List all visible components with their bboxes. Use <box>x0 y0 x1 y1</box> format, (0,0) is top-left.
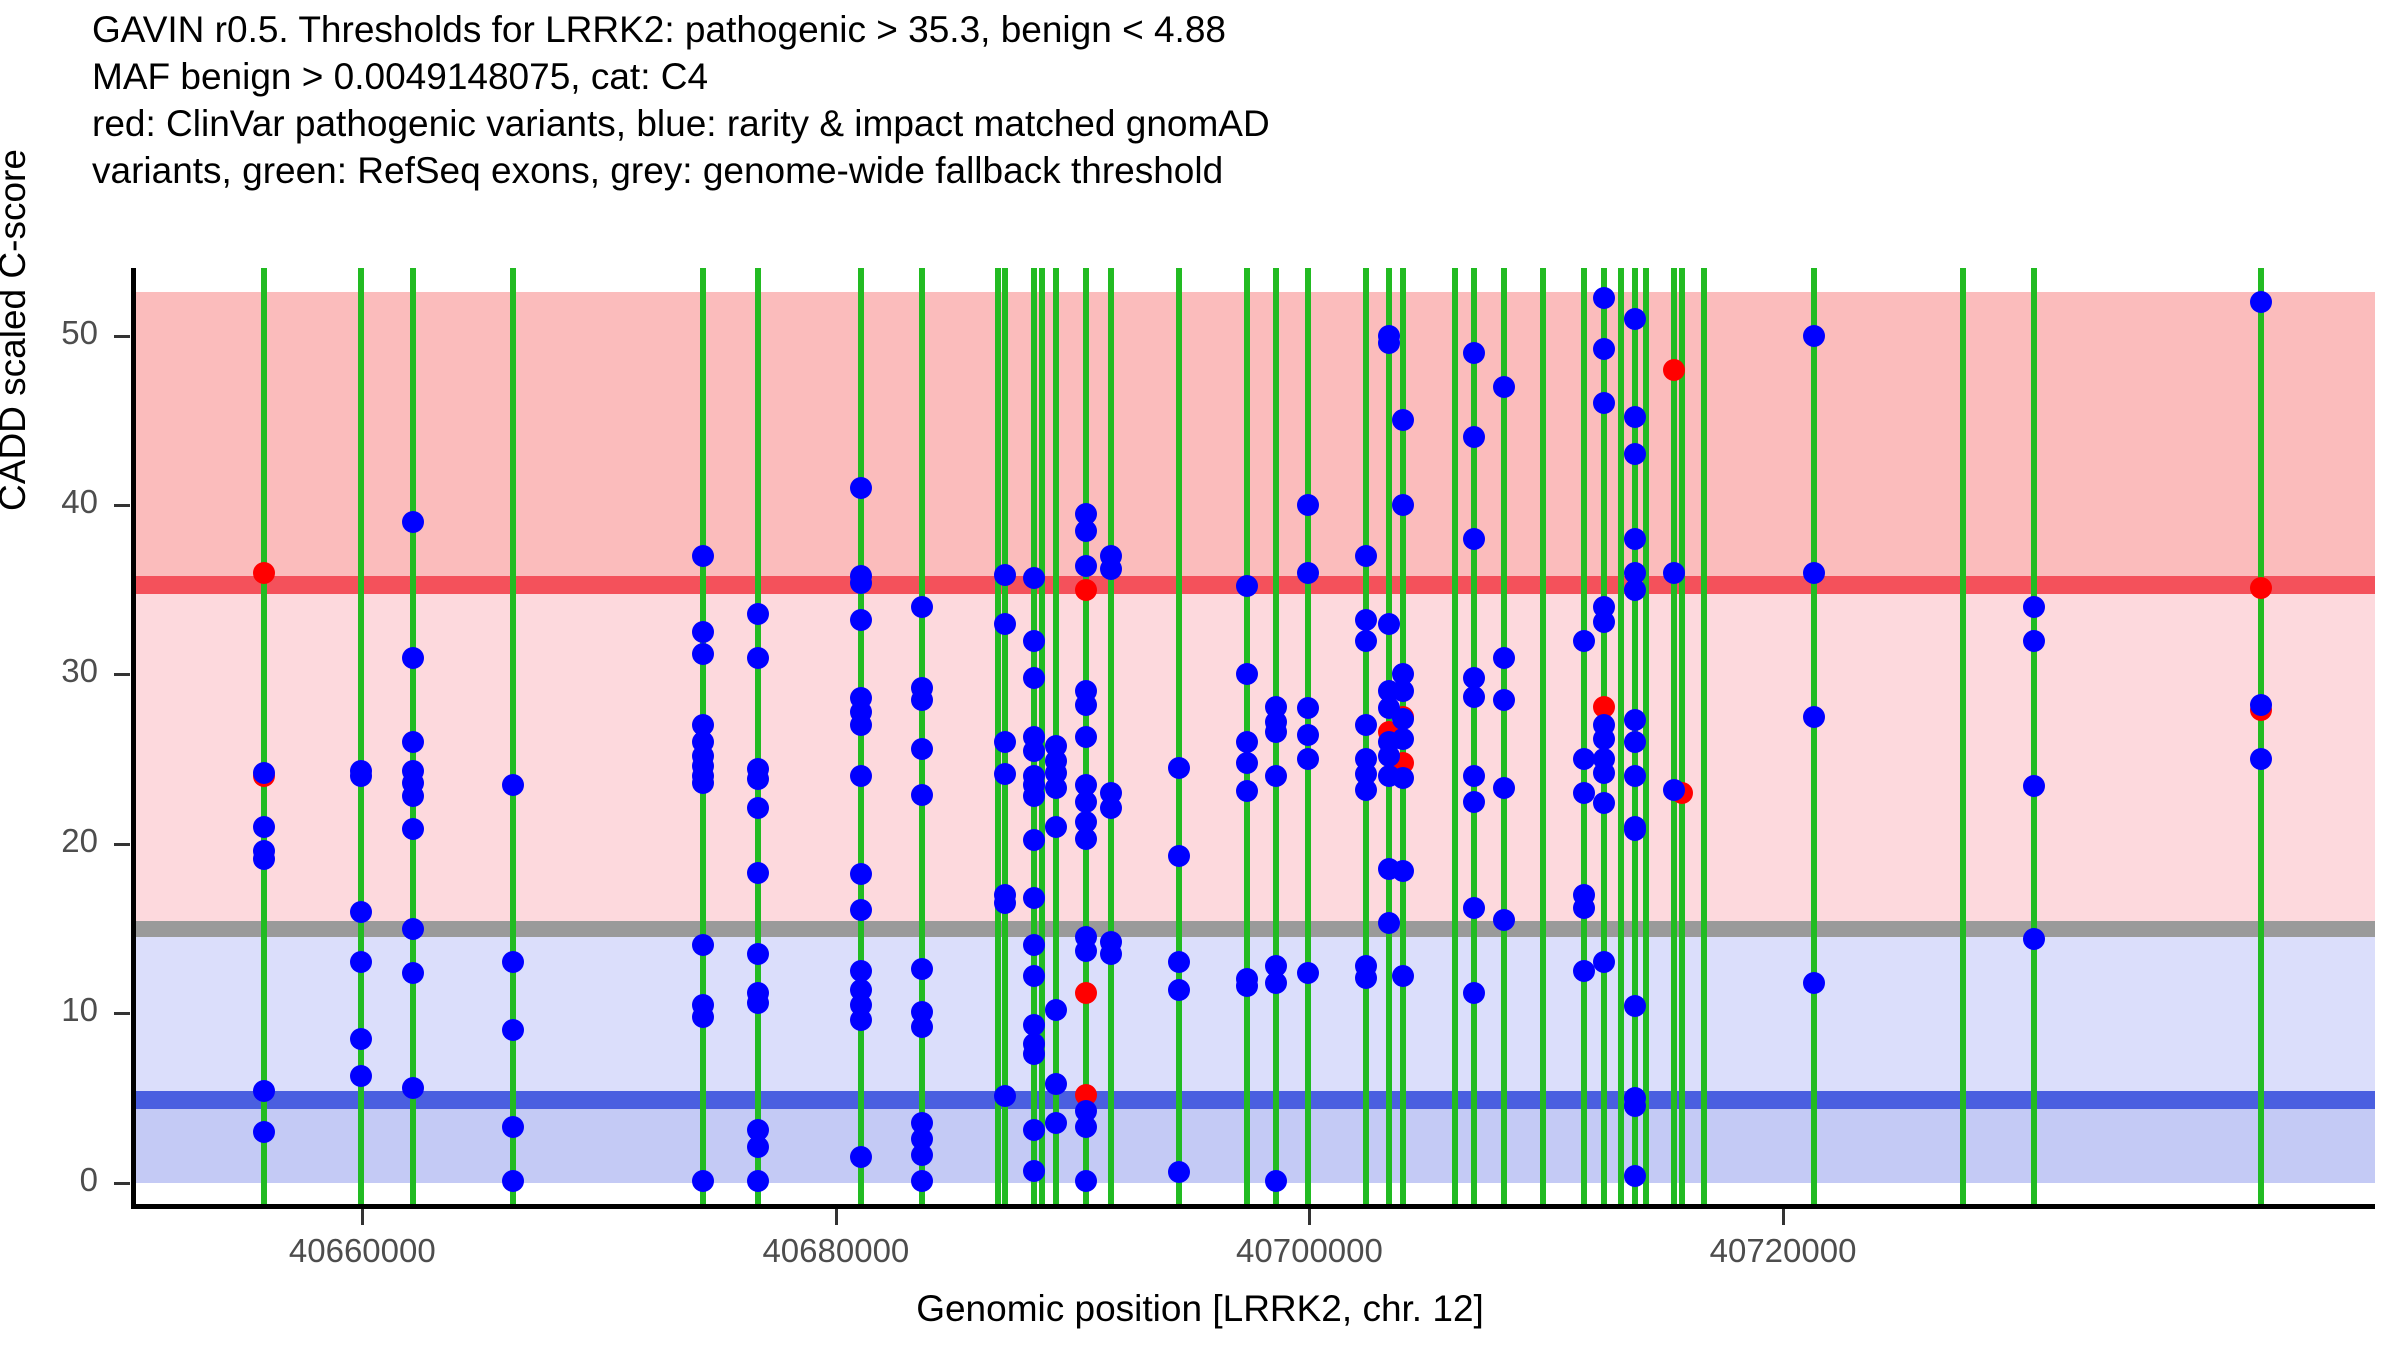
gnomad-variant-point <box>1463 791 1485 813</box>
gnomad-variant-point <box>1265 1170 1287 1192</box>
gnomad-variant-point <box>1265 972 1287 994</box>
plot-clip-region <box>135 268 2375 1208</box>
gnomad-variant-point <box>253 762 275 784</box>
gnomad-variant-point <box>1355 779 1377 801</box>
gnomad-variant-point <box>747 603 769 625</box>
gnomad-variant-point <box>1624 765 1646 787</box>
gnomad-variant-point <box>1624 1165 1646 1187</box>
gnomad-variant-point <box>1624 406 1646 428</box>
gnomad-variant-point <box>692 1170 714 1192</box>
y-axis-tick <box>114 1012 130 1015</box>
pathogenic-variant-point <box>253 562 275 584</box>
y-axis-tick <box>114 843 130 846</box>
y-axis-tick-label: 50 <box>28 314 98 352</box>
gnomad-variant-point <box>1463 342 1485 364</box>
gnomad-variant-point <box>1075 555 1097 577</box>
x-axis-tick-label: 40660000 <box>232 1232 492 1270</box>
exon-line <box>1108 268 1114 1208</box>
gnomad-variant-point <box>2023 928 2045 950</box>
gnomad-variant-point <box>253 1121 275 1143</box>
gnomad-variant-point <box>1075 1116 1097 1138</box>
x-axis-tick <box>1782 1209 1785 1225</box>
exon-line <box>2031 268 2037 1208</box>
exon-line <box>1452 268 1458 1208</box>
gnomad-variant-point <box>1493 909 1515 931</box>
title-line-4: variants, green: RefSeq exons, grey: gen… <box>92 147 2372 194</box>
exon-line <box>1811 268 1817 1208</box>
gnomad-variant-point <box>850 477 872 499</box>
region-benign <box>135 929 2375 1100</box>
gnomad-variant-point <box>1493 689 1515 711</box>
gnomad-variant-point <box>850 765 872 787</box>
gnomad-variant-point <box>1593 728 1615 750</box>
gnomad-variant-point <box>1463 765 1485 787</box>
gnomad-variant-point <box>350 1065 372 1087</box>
region-likely-benign <box>135 1100 2375 1183</box>
y-axis-tick <box>114 504 130 507</box>
gnomad-variant-point <box>402 962 424 984</box>
gnomad-variant-point <box>1392 728 1414 750</box>
exon-line <box>1501 268 1507 1208</box>
y-axis-tick <box>114 335 130 338</box>
gnomad-variant-point <box>1297 962 1319 984</box>
gnomad-variant-point <box>402 1077 424 1099</box>
gnomad-variant-point <box>350 1028 372 1050</box>
gnomad-variant-point <box>1236 752 1258 774</box>
y-axis-tick-label: 20 <box>28 822 98 860</box>
gnomad-variant-point <box>692 772 714 794</box>
gnomad-variant-point <box>1075 726 1097 748</box>
gnomad-variant-point <box>850 714 872 736</box>
gnomad-variant-point <box>1803 562 1825 584</box>
gnomad-variant-point <box>1236 975 1258 997</box>
gnomad-variant-point <box>1168 757 1190 779</box>
gnomad-variant-point <box>350 901 372 923</box>
gnomad-variant-point <box>850 863 872 885</box>
exon-line <box>1363 268 1369 1208</box>
exon-line <box>261 268 267 1208</box>
x-axis-tick <box>361 1209 364 1225</box>
gnomad-variant-point <box>1236 780 1258 802</box>
exon-line <box>755 268 761 1208</box>
gnomad-variant-point <box>1023 887 1045 909</box>
gnomad-variant-point <box>2023 630 2045 652</box>
gnomad-variant-point <box>402 818 424 840</box>
gnomad-variant-point <box>1624 528 1646 550</box>
gnomad-variant-point <box>1075 694 1097 716</box>
gnomad-variant-point <box>1023 1119 1045 1141</box>
gnomad-variant-point <box>1168 845 1190 867</box>
chart-root: GAVIN r0.5. Thresholds for LRRK2: pathog… <box>0 0 2400 1350</box>
title-line-1: GAVIN r0.5. Thresholds for LRRK2: pathog… <box>92 6 2372 53</box>
plot-panel <box>135 268 2375 1208</box>
exon-line <box>1679 268 1685 1208</box>
gnomad-variant-point <box>1168 979 1190 1001</box>
x-axis-tick <box>1308 1209 1311 1225</box>
exon-line <box>1176 268 1182 1208</box>
gnomad-variant-point <box>1392 860 1414 882</box>
gnomad-variant-point <box>253 816 275 838</box>
gnomad-variant-point <box>850 1146 872 1168</box>
gnomad-variant-point <box>1663 779 1685 801</box>
pathogenic-variant-point <box>1075 579 1097 601</box>
gnomad-variant-point <box>402 918 424 940</box>
gnomad-variant-point <box>1573 630 1595 652</box>
gnomad-variant-point <box>1463 528 1485 550</box>
gnomad-variant-point <box>253 1080 275 1102</box>
gnomad-variant-point <box>747 647 769 669</box>
gnomad-variant-point <box>1045 999 1067 1021</box>
gnomad-variant-point <box>502 1170 524 1192</box>
gnomad-variant-point <box>1023 667 1045 689</box>
region-pathogenic <box>135 292 2375 585</box>
gnomad-variant-point <box>1463 982 1485 1004</box>
x-axis-tick-label: 40720000 <box>1653 1232 1913 1270</box>
gnomad-variant-point <box>1493 777 1515 799</box>
gnomad-variant-point <box>1023 934 1045 956</box>
gnomad-variant-point <box>747 943 769 965</box>
gnomad-variant-point <box>1803 706 1825 728</box>
gnomad-variant-point <box>502 951 524 973</box>
pathogenic-variant-point <box>1075 982 1097 1004</box>
gnomad-variant-point <box>1075 520 1097 542</box>
gnomad-variant-point <box>850 609 872 631</box>
pathogenic-variant-point <box>1663 359 1685 381</box>
y-axis-title: CADD scaled C-score <box>0 100 34 560</box>
gnomad-variant-point <box>1075 1170 1097 1192</box>
gnomad-variant-point <box>1023 965 1045 987</box>
exon-line <box>1960 268 1966 1208</box>
gnomad-variant-point <box>1100 558 1122 580</box>
gnomad-variant-point <box>1075 828 1097 850</box>
gnomad-variant-point <box>1023 829 1045 851</box>
gnomad-variant-point <box>1045 777 1067 799</box>
gnomad-variant-point <box>911 784 933 806</box>
exon-line <box>1671 268 1677 1208</box>
y-axis-tick <box>114 673 130 676</box>
title-line-2: MAF benign > 0.0049148075, cat: C4 <box>92 53 2372 100</box>
x-axis-tick-label: 40700000 <box>1179 1232 1439 1270</box>
exon-line <box>1540 268 1546 1208</box>
gnomad-variant-point <box>747 1170 769 1192</box>
gnomad-variant-point <box>1023 1043 1045 1065</box>
exon-line <box>858 268 864 1208</box>
gnomad-variant-point <box>1463 686 1485 708</box>
gnomad-variant-point <box>911 596 933 618</box>
gnomad-variant-point <box>1075 940 1097 962</box>
gnomad-variant-point <box>1355 630 1377 652</box>
y-axis-tick-label: 0 <box>28 1161 98 1199</box>
gnomad-variant-point <box>1100 797 1122 819</box>
title-line-3: red: ClinVar pathogenic variants, blue: … <box>92 100 2372 147</box>
gnomad-variant-point <box>502 1116 524 1138</box>
gnomad-variant-point <box>747 1136 769 1158</box>
gnomad-variant-point <box>1297 562 1319 584</box>
gnomad-variant-point <box>1392 708 1414 730</box>
exon-line <box>1471 268 1477 1208</box>
y-axis-tick <box>114 1182 130 1185</box>
gnomad-variant-point <box>1355 967 1377 989</box>
gnomad-variant-point <box>747 797 769 819</box>
x-axis-tick-label: 40680000 <box>706 1232 966 1270</box>
y-axis-tick-label: 40 <box>28 483 98 521</box>
y-axis-tick-label: 30 <box>28 652 98 690</box>
y-axis-tick-label: 10 <box>28 991 98 1029</box>
exon-line <box>1618 268 1624 1208</box>
gnomad-variant-point <box>1023 1160 1045 1182</box>
gnomad-variant-point <box>1493 647 1515 669</box>
gnomad-variant-point <box>1023 567 1045 589</box>
gnomad-variant-point <box>1392 494 1414 516</box>
gnomad-variant-point <box>747 862 769 884</box>
gnomad-variant-point <box>1100 943 1122 965</box>
exon-line <box>1581 268 1587 1208</box>
x-axis-title: Genomic position [LRRK2, chr. 12] <box>700 1288 1700 1330</box>
benign-threshold-line <box>135 1091 2375 1109</box>
gnomad-variant-point <box>1663 562 1685 584</box>
x-axis-tick <box>835 1209 838 1225</box>
gnomad-variant-point <box>850 572 872 594</box>
exon-line <box>1701 268 1707 1208</box>
exon-line <box>510 268 516 1208</box>
gnomad-variant-point <box>850 899 872 921</box>
gnomad-variant-point <box>1023 630 1045 652</box>
gnomad-variant-point <box>850 1009 872 1031</box>
gnomad-variant-point <box>1493 376 1515 398</box>
gnomad-variant-point <box>1378 325 1400 347</box>
gnomad-variant-point <box>253 848 275 870</box>
chart-title-block: GAVIN r0.5. Thresholds for LRRK2: pathog… <box>92 6 2372 194</box>
x-axis-line <box>131 1204 2375 1209</box>
gnomad-variant-point <box>402 647 424 669</box>
gnomad-variant-point <box>1378 613 1400 635</box>
gnomad-variant-point <box>1236 575 1258 597</box>
gnomad-variant-point <box>994 564 1016 586</box>
gnomad-variant-point <box>1573 782 1595 804</box>
gnomad-variant-point <box>1023 740 1045 762</box>
gnomad-variant-point <box>1236 731 1258 753</box>
gnomad-variant-point <box>1045 816 1067 838</box>
exon-line <box>2258 268 2264 1208</box>
gnomad-variant-point <box>502 1019 524 1041</box>
gnomad-variant-point <box>1392 767 1414 789</box>
gnomad-variant-point <box>1803 972 1825 994</box>
y-axis-line <box>131 268 136 1208</box>
gnomad-variant-point <box>1593 762 1615 784</box>
gnomad-variant-point <box>911 1170 933 1192</box>
gnomad-variant-point <box>692 1006 714 1028</box>
gnomad-variant-point <box>1624 579 1646 601</box>
gnomad-variant-point <box>1803 325 1825 347</box>
gnomad-variant-point <box>747 992 769 1014</box>
gnomad-variant-point <box>1573 960 1595 982</box>
gnomad-variant-point <box>1624 308 1646 330</box>
gnomad-variant-point <box>502 774 524 796</box>
gnomad-variant-point <box>1023 785 1045 807</box>
gnomad-variant-point <box>994 613 1016 635</box>
gnomad-variant-point <box>2023 596 2045 618</box>
gnomad-variant-point <box>911 1016 933 1038</box>
gnomad-variant-point <box>1392 965 1414 987</box>
gnomad-variant-point <box>1075 791 1097 813</box>
